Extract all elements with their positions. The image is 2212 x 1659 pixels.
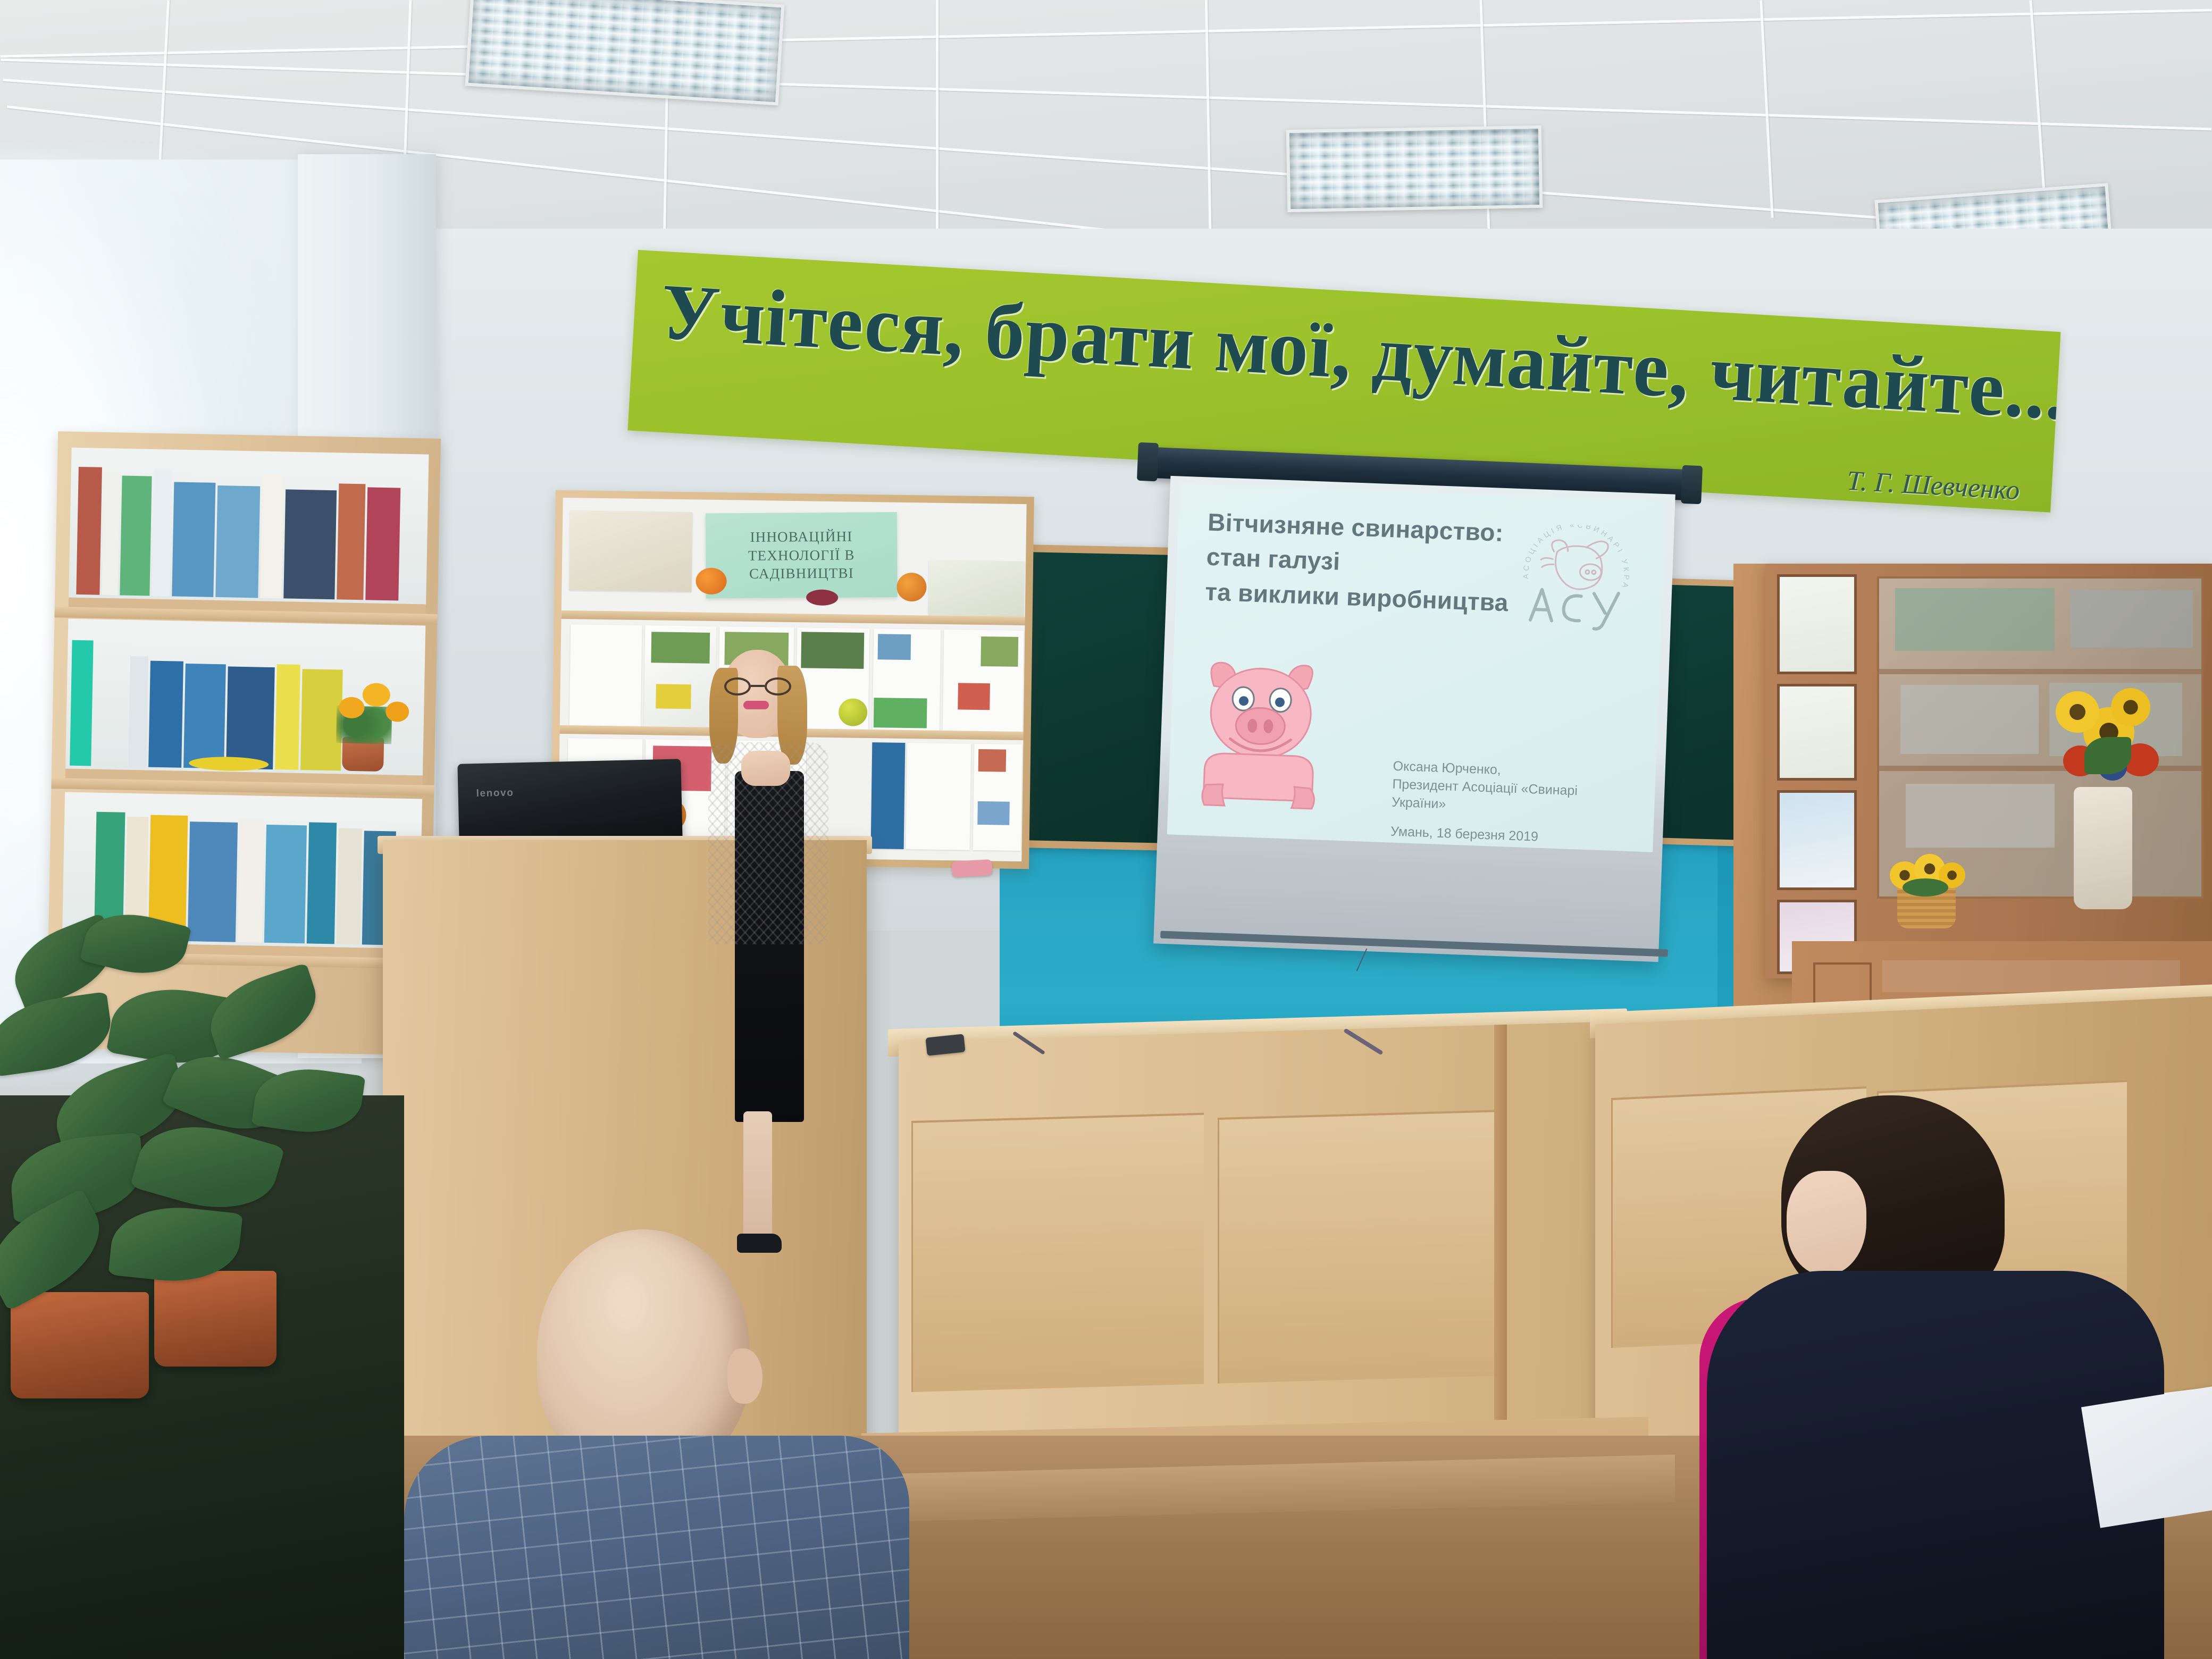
potted-plants: [0, 899, 383, 1590]
shelf-topic-sign: ІННОВАЦІЙНІ ТЕХНОЛОГІЇ В САДІВНИЦТВІ: [706, 512, 898, 599]
asu-association-logo: АСОЦІАЦІЯ «СВИНАРІ УКРАЇНИ»: [1513, 523, 1639, 641]
ceiling-light-fixture: [1286, 125, 1543, 212]
projector-screen: Вітчизняне свинарство: стан галузі та ви…: [1153, 476, 1675, 962]
audience-ear: [727, 1348, 763, 1404]
classroom-scene: Учітеся, брати мої, думайте, читайте... …: [0, 0, 2212, 1659]
display-cabinet-right: [1765, 564, 2212, 978]
certificate-frame: [1777, 684, 1857, 781]
shelf-bay: [65, 619, 426, 785]
audience-shirt: [404, 1436, 909, 1659]
flower-pot: [11, 1292, 149, 1398]
presenter-glasses-icon: [724, 677, 791, 696]
flower-pot: [154, 1271, 276, 1367]
presenter-hands: [741, 751, 790, 786]
audience-member-front: [404, 1223, 909, 1659]
board-eraser[interactable]: [951, 859, 992, 877]
fruit-orange: [896, 573, 927, 602]
decor-berries: [806, 589, 838, 606]
cartoon-pig-illustration: [1189, 644, 1334, 819]
sign-line-2: ТЕХНОЛОГІЇ В: [748, 547, 855, 563]
certificate-frame: [1777, 574, 1857, 674]
audience-face: [1787, 1171, 1866, 1275]
presenter-person: [686, 638, 845, 1255]
presentation-slide: Вітчизняне свинарство: стан галузі та ви…: [1167, 484, 1666, 852]
newspaper: [928, 560, 1025, 621]
ceiling-light-fixture: [465, 0, 785, 105]
sign-line-3: САДІВНИЦТВІ: [749, 565, 854, 582]
sunflower-vase: [2074, 787, 2132, 909]
laptop[interactable]: lenovo: [457, 759, 682, 844]
slide-place-date: Умань, 18 березня 2019: [1390, 824, 1588, 847]
certificate-frame: [1777, 790, 1857, 890]
newspaper: [569, 510, 692, 592]
slide-presenter-credit: Оксана Юрченко, Президент Асоціації «Сви…: [1392, 758, 1590, 819]
slide-title: Вітчизняне свинарство: стан галузі та ви…: [1204, 505, 1548, 622]
audience-member-right: [1686, 1095, 2212, 1659]
sign-line-1: ІННОВАЦІЙНІ: [750, 529, 852, 545]
svg-text:АСОЦІАЦІЯ «СВИНАРІ УКРАЇНИ»: АСОЦІАЦІЯ «СВИНАРІ УКРАЇНИ»: [1513, 523, 1633, 591]
banner-attribution: Т. Г. Шевченко: [1846, 465, 2021, 507]
shelf-bay: [69, 448, 429, 614]
laptop-brand-label: lenovo: [476, 787, 514, 800]
